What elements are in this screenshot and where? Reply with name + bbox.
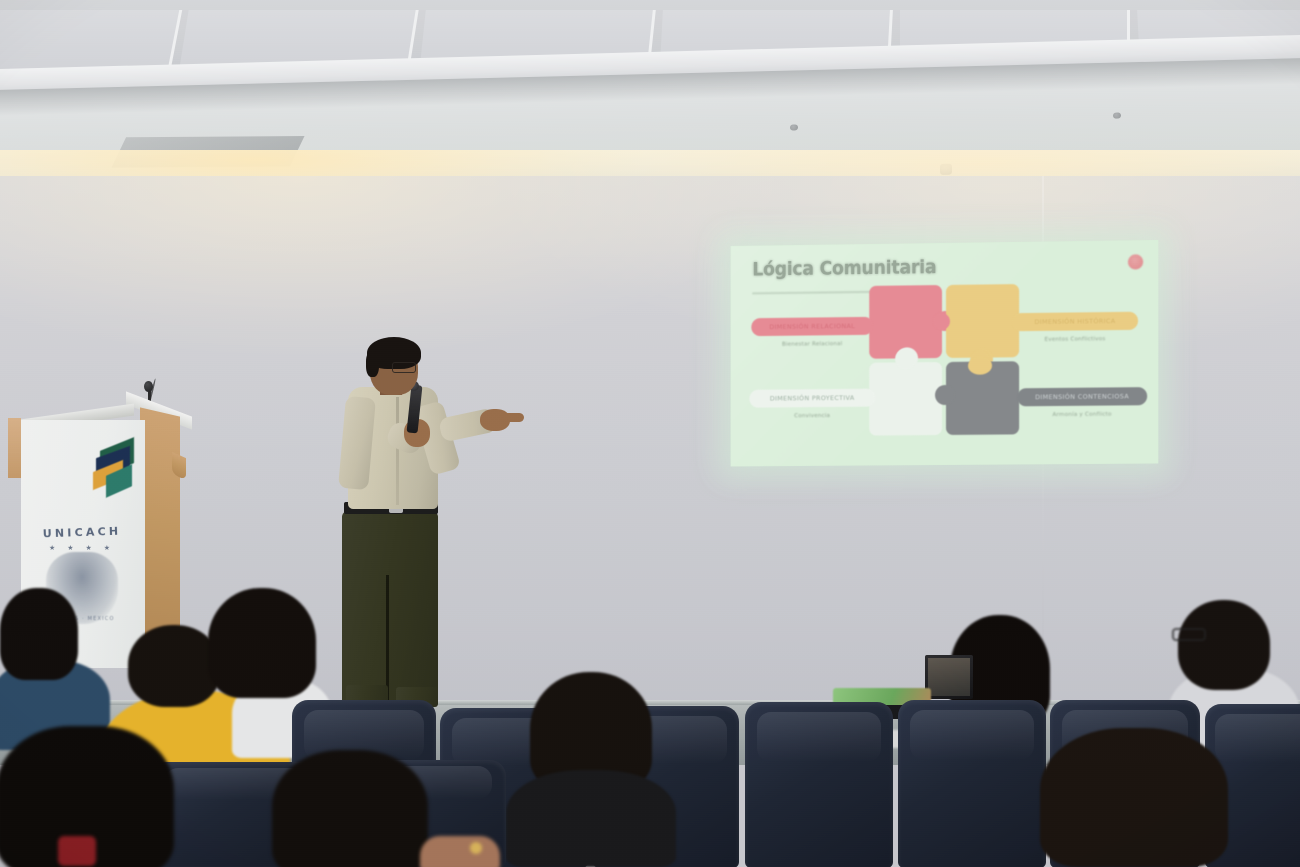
sprinkler-icon <box>790 124 798 130</box>
laptop-screen <box>925 655 973 699</box>
audience-member-head <box>1178 600 1270 690</box>
audience-red-accessory <box>58 836 96 866</box>
audience-member-head <box>272 750 428 867</box>
slide-item-pill-1: DIMENSIÓN HISTÓRICA <box>1012 312 1138 332</box>
unicach-seal-stars: ★ ★ ★ ★ <box>34 544 130 552</box>
auditorium-seat <box>745 702 893 867</box>
audience-member-head <box>128 625 220 707</box>
presenter-trousers <box>342 511 438 703</box>
slide-item-sub-3: Armonía y Conflicto <box>1017 411 1147 418</box>
sprinkler-icon <box>1113 112 1121 118</box>
projected-slide: Lógica Comunitaria DIMENSIÓN RELACIONAL … <box>731 240 1159 466</box>
presenter <box>330 335 550 710</box>
slide-title: Lógica Comunitaria <box>753 256 937 280</box>
auditorium-photo: Lógica Comunitaria DIMENSIÓN RELACIONAL … <box>0 0 1300 867</box>
audience-glasses-icon <box>1172 628 1206 641</box>
ceiling-vent <box>111 136 304 168</box>
sprinkler-icon <box>940 164 952 175</box>
presenter-glasses <box>392 362 416 373</box>
audience-member <box>506 770 676 867</box>
slide-item-sub-2: Convivencia <box>749 413 875 420</box>
slide-item-pill-0: DIMENSIÓN RELACIONAL <box>751 317 873 336</box>
unicach-seal-label: UNICACH <box>34 524 130 540</box>
audience-member-head <box>1040 728 1228 867</box>
auditorium-seat <box>898 700 1046 867</box>
audience-ring-icon <box>470 842 482 854</box>
audience-member-head <box>0 588 78 680</box>
puzzle-piece-bottom-left <box>869 362 942 436</box>
puzzle-graphic <box>869 284 1019 436</box>
audience-member-head <box>208 588 316 698</box>
slide-item-pill-3: DIMENSIÓN CONTENCIOSA <box>1017 387 1147 406</box>
podium-mic-icon <box>144 381 153 392</box>
audience-hand <box>420 836 500 867</box>
slide-item-pill-2: DIMENSIÓN PROYECTIVA <box>749 389 875 408</box>
puzzle-piece-top-right <box>946 284 1019 358</box>
